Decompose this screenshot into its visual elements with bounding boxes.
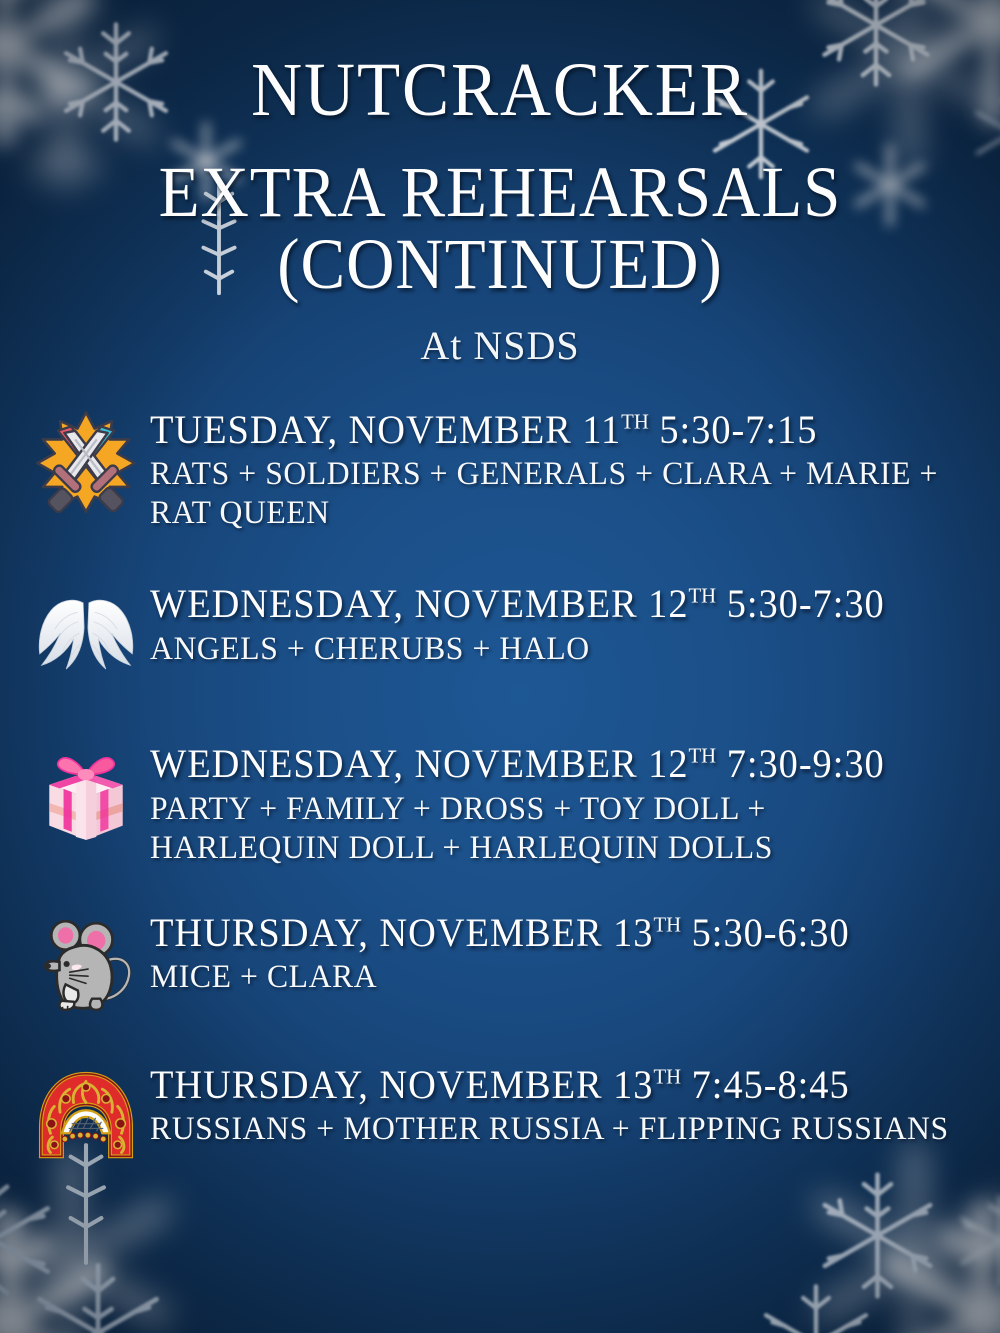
- list-item: WEDNESDAY, NOVEMBER 12TH 7:30-9:30 PARTY…: [22, 739, 984, 867]
- entry-cast: RUSSIANS + MOTHER RUSSIA + FLIPPING RUSS…: [150, 1110, 951, 1149]
- entry-day: THURSDAY, NOVEMBER 13: [150, 1062, 653, 1107]
- list-item: TUESDAY, NOVEMBER 11TH 5:30-7:15 RATS + …: [22, 405, 984, 533]
- poster-canvas: NUTCRACKER EXTRA REHEARSALS (CONTINUED) …: [0, 0, 1000, 1333]
- entry-ordinal: TH: [653, 1064, 681, 1088]
- entry-time: 7:30-9:30: [727, 741, 885, 786]
- entry-cast: MICE + CLARA: [150, 958, 951, 997]
- snowflake-icon: [0, 1208, 125, 1333]
- entry-heading: THURSDAY, NOVEMBER 13TH 7:45-8:45: [150, 1064, 951, 1106]
- entry-body: WEDNESDAY, NOVEMBER 12TH 7:30-9:30 PARTY…: [150, 739, 984, 867]
- entry-heading: WEDNESDAY, NOVEMBER 12TH 5:30-7:30: [150, 583, 951, 625]
- snowflake-icon: [810, 1168, 945, 1303]
- entry-day: TUESDAY, NOVEMBER 11: [150, 407, 621, 452]
- entry-cast: RATS + SOLDIERS + GENERALS + CLARA + MAR…: [150, 455, 951, 533]
- snowflake-icon: [23, 1258, 173, 1333]
- gift-box-icon: [22, 739, 150, 851]
- entry-day: THURSDAY, NOVEMBER 13: [150, 910, 653, 955]
- snowflake-icon: [752, 1280, 880, 1333]
- entry-time: 5:30-7:15: [659, 407, 817, 452]
- entry-body: THURSDAY, NOVEMBER 13TH 5:30-6:30 MICE +…: [150, 908, 984, 997]
- list-item: THURSDAY, NOVEMBER 13TH 7:45-8:45 RUSSIA…: [22, 1060, 984, 1172]
- page-subtitle: EXTRA REHEARSALS (CONTINUED): [35, 156, 965, 300]
- angel-wings-icon: [22, 579, 150, 691]
- snowflake-icon: [865, 1198, 1000, 1333]
- entry-ordinal: TH: [689, 744, 717, 768]
- rehearsal-schedule-list: TUESDAY, NOVEMBER 11TH 5:30-7:15 RATS + …: [0, 405, 1000, 1172]
- entry-body: THURSDAY, NOVEMBER 13TH 7:45-8:45 RUSSIA…: [150, 1060, 984, 1149]
- snowflake-icon: [948, 1189, 1000, 1293]
- entry-ordinal: TH: [689, 584, 717, 608]
- list-item: WEDNESDAY, NOVEMBER 12TH 5:30-7:30 ANGEL…: [22, 579, 984, 691]
- entry-body: WEDNESDAY, NOVEMBER 12TH 5:30-7:30 ANGEL…: [150, 579, 984, 668]
- entry-ordinal: TH: [653, 912, 681, 936]
- mouse-icon: [22, 908, 150, 1020]
- kokoshnik-icon: [22, 1060, 150, 1172]
- entry-time: 5:30-7:30: [727, 581, 885, 626]
- entry-time: 7:45-8:45: [692, 1062, 850, 1107]
- snowflake-icon: [0, 1170, 63, 1310]
- entry-body: TUESDAY, NOVEMBER 11TH 5:30-7:15 RATS + …: [150, 405, 984, 533]
- page-title: NUTCRACKER: [35, 52, 965, 128]
- location-label: At NSDS: [0, 322, 1000, 369]
- poster-header: NUTCRACKER EXTRA REHEARSALS (CONTINUED) …: [0, 0, 1000, 369]
- entry-cast: ANGELS + CHERUBS + HALO: [150, 630, 951, 669]
- entry-time: 5:30-6:30: [692, 910, 850, 955]
- entry-cast: PARTY + FAMILY + DROSS + TOY DOLL + HARL…: [150, 790, 951, 868]
- entry-heading: TUESDAY, NOVEMBER 11TH 5:30-7:15: [150, 409, 951, 451]
- crossed-swords-icon: [22, 405, 150, 517]
- entry-ordinal: TH: [621, 410, 649, 434]
- entry-day: WEDNESDAY, NOVEMBER 12: [150, 581, 689, 626]
- entry-heading: THURSDAY, NOVEMBER 13TH 5:30-6:30: [150, 912, 951, 954]
- entry-heading: WEDNESDAY, NOVEMBER 12TH 7:30-9:30: [150, 743, 951, 785]
- list-item: THURSDAY, NOVEMBER 13TH 5:30-6:30 MICE +…: [22, 908, 984, 1020]
- entry-day: WEDNESDAY, NOVEMBER 12: [150, 741, 689, 786]
